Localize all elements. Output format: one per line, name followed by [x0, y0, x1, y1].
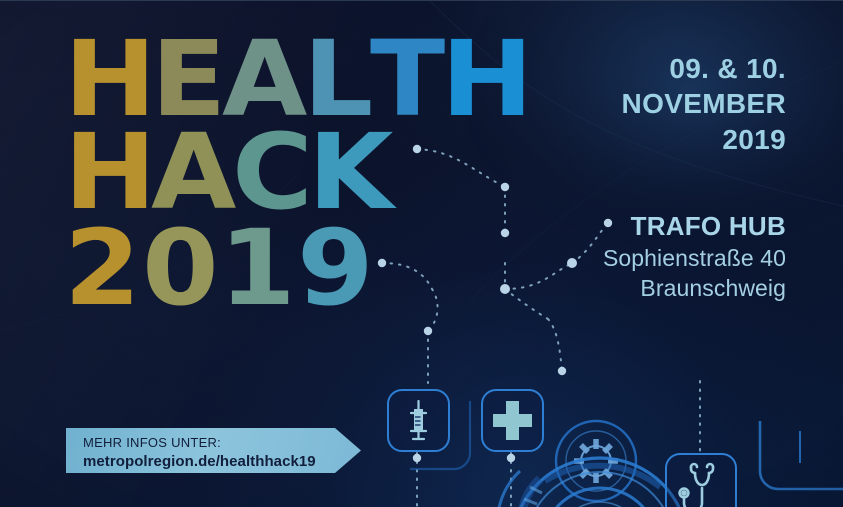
logo-letter-h1: H — [64, 37, 156, 122]
banner-label: MEHR INFOS UNTER: — [83, 435, 316, 452]
more-info-banner[interactable]: MEHR INFOS UNTER: metropolregion.de/heal… — [66, 428, 361, 473]
event-date-line3: 2019 — [622, 122, 786, 157]
syringe-icon-tile[interactable] — [387, 389, 450, 452]
hud-arc-left — [497, 471, 542, 507]
venue-name: TRAFO HUB — [603, 210, 786, 244]
medical-cross-icon-tile[interactable] — [481, 389, 544, 452]
logotype-line-year: 2019 — [64, 226, 528, 311]
logo-letter-t: T — [370, 37, 445, 122]
event-venue: TRAFO HUB Sophienstraße 40 Braunschweig — [603, 210, 786, 304]
logo-letter-l: L — [303, 37, 373, 122]
banner-url[interactable]: metropolregion.de/healthhack19 — [83, 452, 316, 471]
logotype-line-health: HEALTH — [64, 37, 528, 122]
hud-corner-right — [760, 421, 843, 489]
logo-letter-c: C — [232, 130, 313, 215]
logo-digit-1: 1 — [219, 226, 301, 311]
stethoscope-icon-tile[interactable] — [665, 453, 737, 507]
banner-text: MEHR INFOS UNTER: metropolregion.de/heal… — [83, 435, 316, 471]
event-date: 09. & 10. NOVEMBER 2019 — [622, 51, 786, 157]
logo-digit-9: 9 — [297, 226, 379, 311]
logo-letter-h3: H — [64, 130, 156, 215]
logo-letter-k: K — [308, 130, 394, 215]
medical-cross-icon — [483, 391, 542, 450]
logo-digit-0: 0 — [142, 226, 224, 311]
logotype-line-hack: HACK — [64, 130, 528, 215]
logo-letter-a: A — [222, 37, 308, 122]
logo-letter-a2: A — [151, 130, 237, 215]
event-logotype: HEALTH HACK 2019 — [64, 37, 528, 311]
stethoscope-icon — [667, 455, 735, 507]
event-date-line2: NOVEMBER — [622, 86, 786, 121]
logo-letter-e: E — [151, 37, 227, 122]
event-date-line1: 09. & 10. — [622, 51, 786, 86]
venue-city: Braunschweig — [603, 274, 786, 304]
venue-street: Sophienstraße 40 — [603, 244, 786, 274]
logo-digit-2: 2 — [64, 226, 146, 311]
poster-canvas: HEALTH HACK 2019 09. & 10. NOVEMBER 2019… — [0, 0, 843, 507]
syringe-icon — [389, 391, 448, 450]
logo-letter-h2: H — [441, 37, 533, 122]
